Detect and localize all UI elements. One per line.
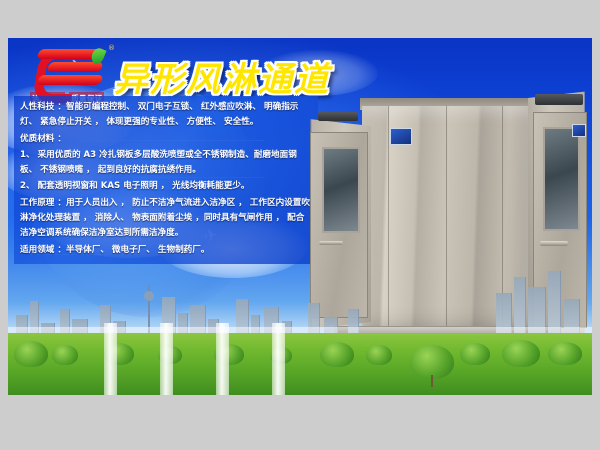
control-panel <box>390 128 412 145</box>
description-panel: 人性科技 ：智能可编程控制、 双门电子互锁、 红外感应吹淋、 明确指示灯、 紧急… <box>14 96 318 264</box>
door-window-left <box>322 147 360 233</box>
door-handle-right <box>540 241 568 246</box>
foreground-column <box>104 323 117 395</box>
screenshot-canvas: ✈ ✈ ✈ ® 洁净空调 质量保证 异形风淋通道 人性科技 ：智能可编程控制、 … <box>0 0 600 450</box>
tree-graphic <box>14 341 48 367</box>
product-banner-image: ✈ ✈ ✈ ® 洁净空调 质量保证 异形风淋通道 人性科技 ：智能可编程控制、 … <box>8 38 592 395</box>
door-window-right <box>543 127 580 231</box>
foreground-column <box>216 323 229 395</box>
tree-graphic <box>320 342 354 367</box>
copy-line: 2、 配套透明视窗和 KAS 电子照明 ， 光线均衡耗能更少。 <box>20 179 312 194</box>
copy-line: 适用领域 ：半导体厂、 微电子厂、 生物制药厂。 <box>20 243 312 258</box>
door-closer-left <box>318 112 358 121</box>
door-handle-left <box>319 241 343 245</box>
grass-lawn <box>8 333 592 395</box>
tree-graphic <box>460 343 490 365</box>
tree-graphic <box>410 345 454 379</box>
door-closer-right <box>535 94 583 105</box>
tree-trunk <box>431 375 433 387</box>
copy-line: 工作原理 ：用于人员出入 ， 防止不洁净气流进入洁净区 ， 工作区内设置吹淋净化… <box>20 196 312 242</box>
logo-mark-icon: ® <box>36 46 114 90</box>
tree-graphic <box>52 345 78 365</box>
tree-graphic <box>366 345 392 365</box>
copy-line: 人性科技 ：智能可编程控制、 双门电子互锁、 红外感应吹淋、 明确指示灯、 紧急… <box>20 100 312 131</box>
copy-line: 优质材料 ： <box>20 132 312 147</box>
control-panel-secondary <box>572 124 586 137</box>
registered-trademark-icon: ® <box>108 44 115 52</box>
tree-graphic <box>502 340 540 367</box>
foreground-column <box>272 323 285 395</box>
page-title: 异形风淋通道 <box>114 52 330 101</box>
copy-line: 1、 采用优质的 A3 冷扎钢板多层酸洗喷塑或全不锈钢制造、耐磨地面钢板、 不锈… <box>20 148 312 179</box>
foreground-column <box>160 323 173 395</box>
tree-graphic <box>548 342 582 365</box>
